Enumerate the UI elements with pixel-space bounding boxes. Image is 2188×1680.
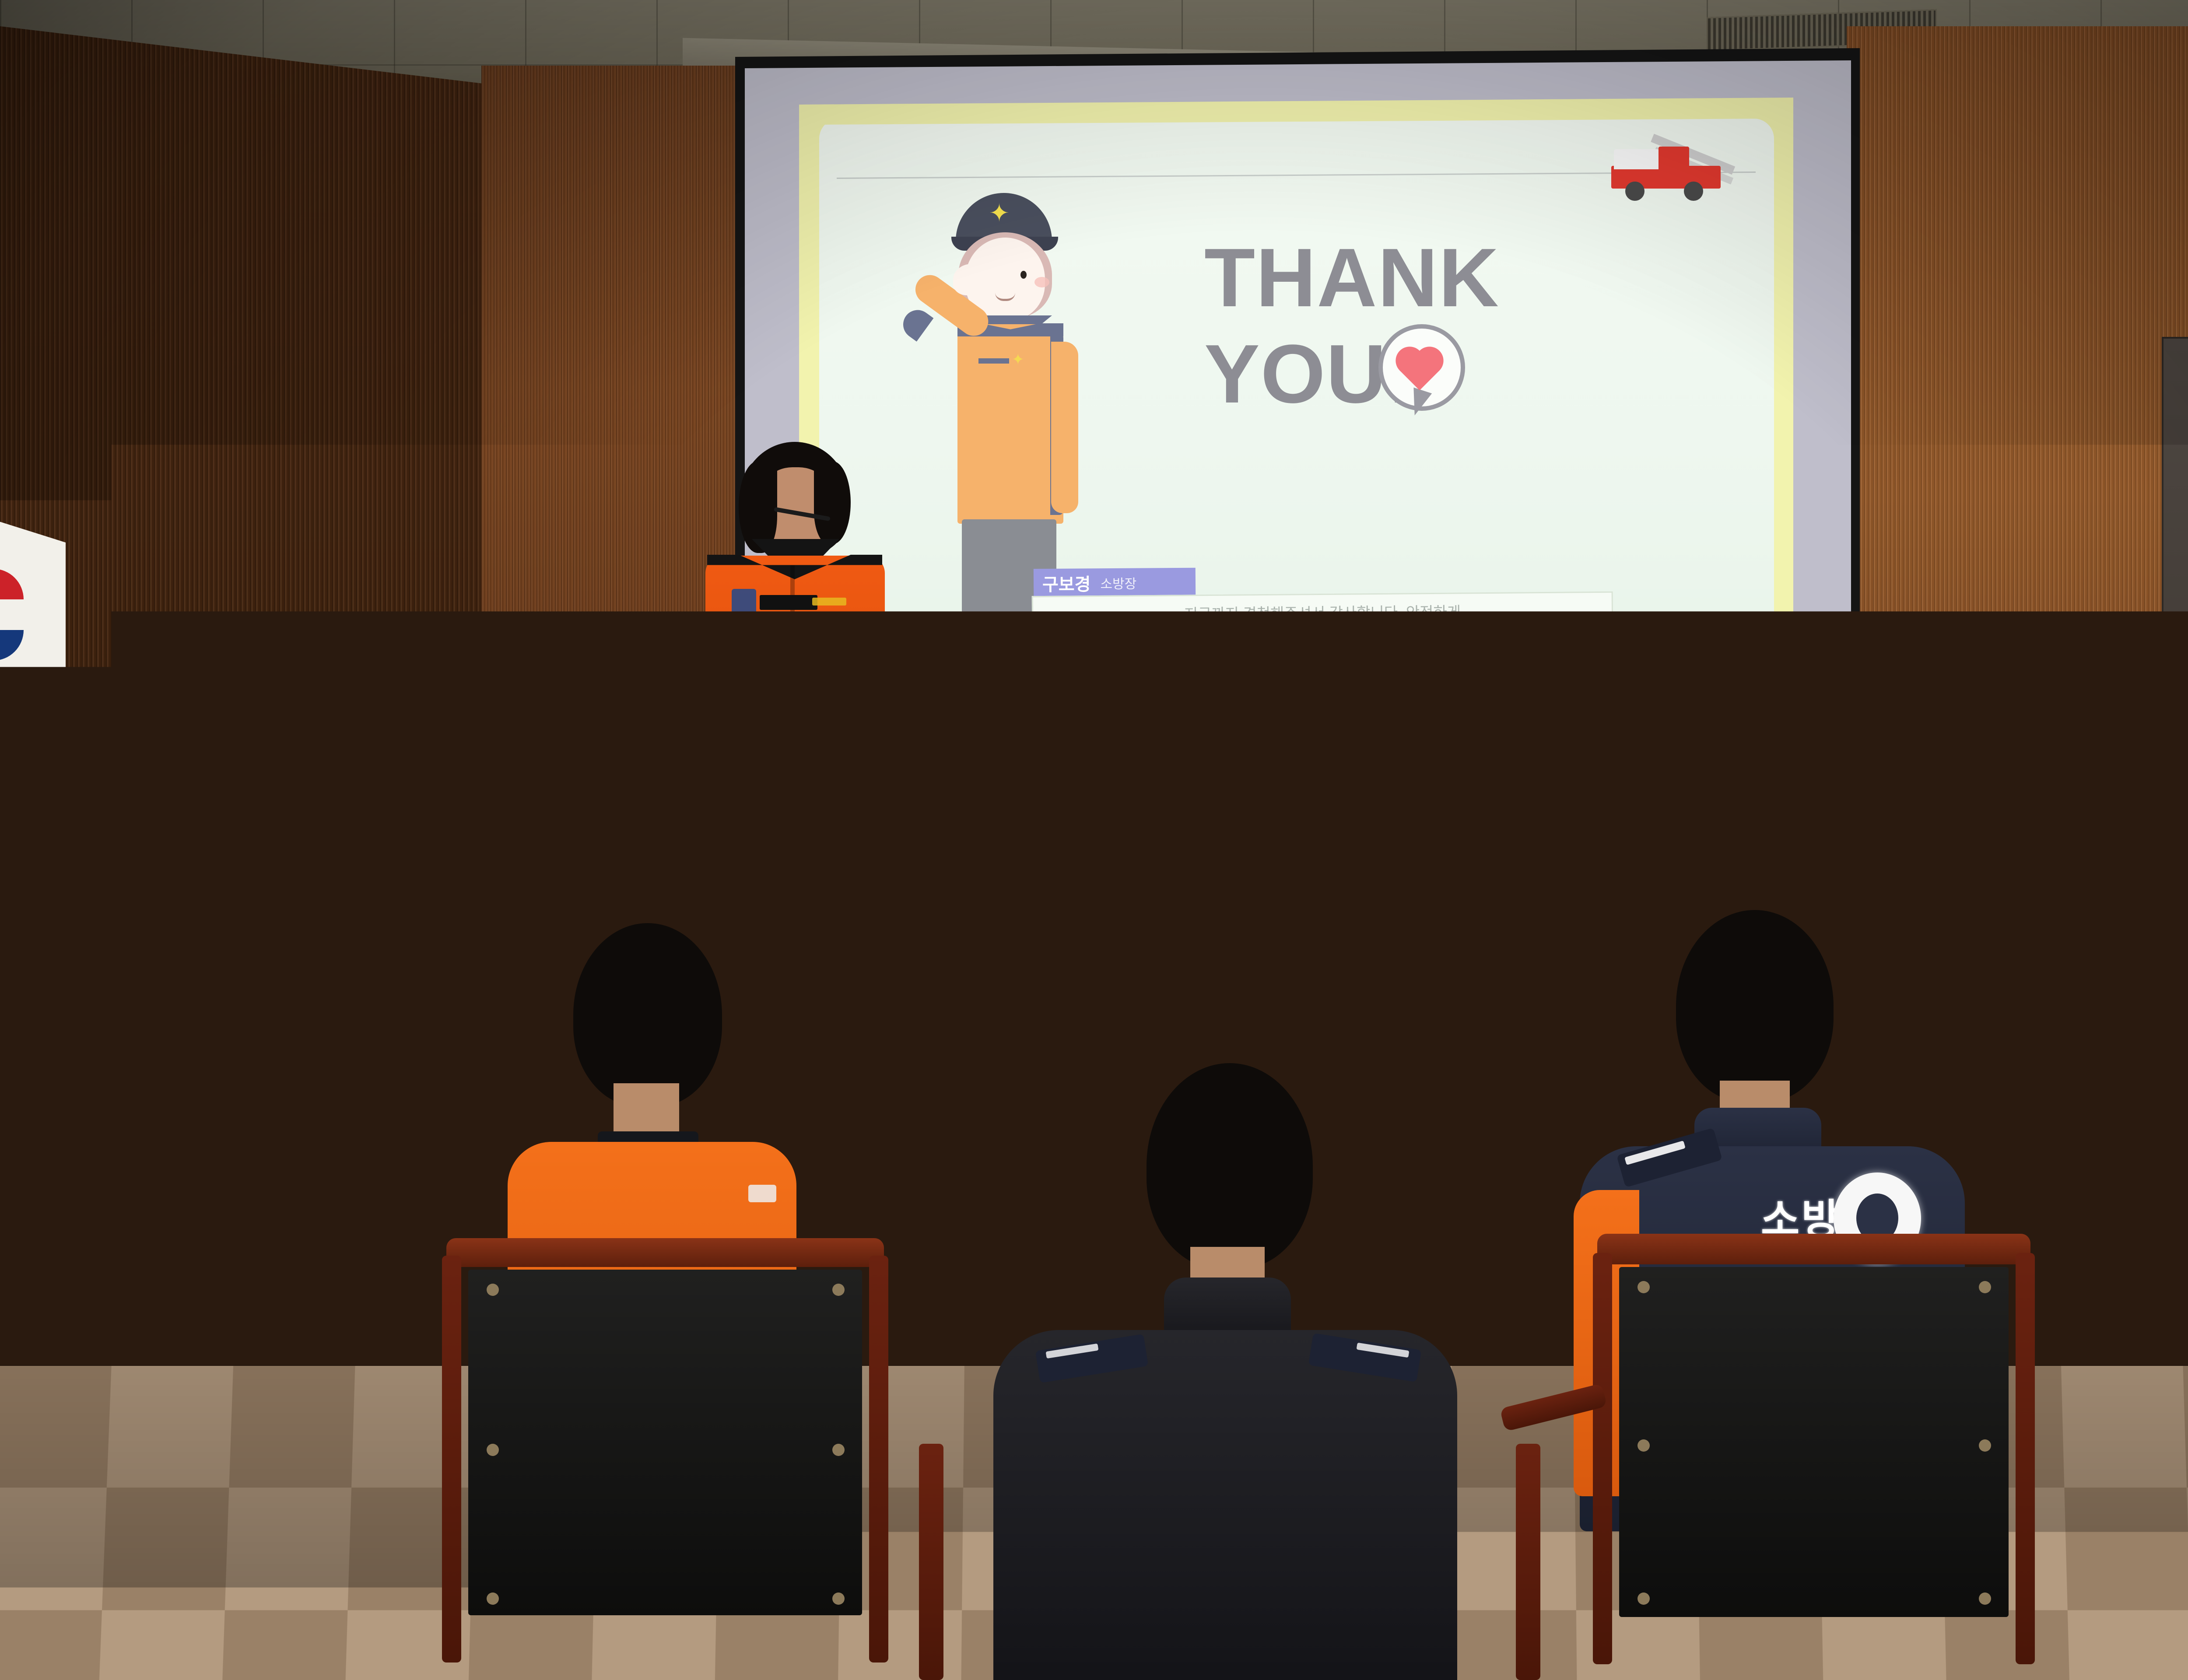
scene-vignette (0, 0, 2188, 1680)
auditorium-scene: ✦ (0, 0, 2188, 1680)
